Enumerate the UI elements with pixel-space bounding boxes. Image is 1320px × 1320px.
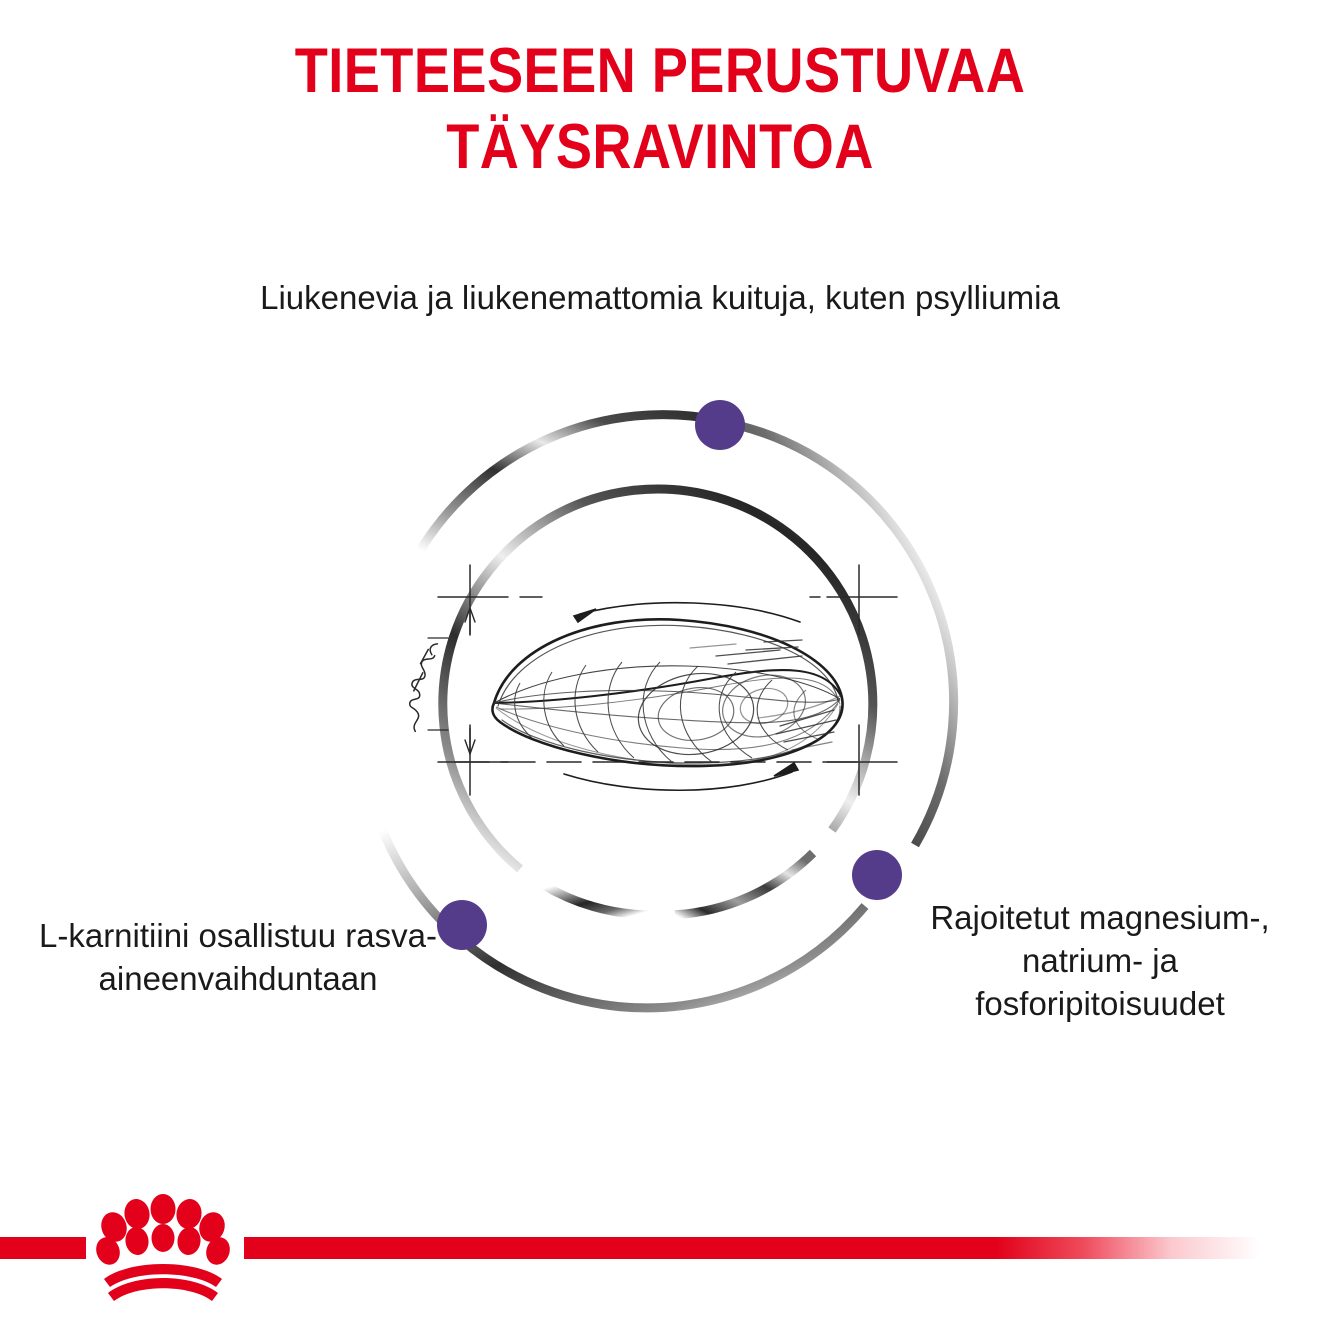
callout-label-top: Liukenevia ja liukenemattomia kuituja, k… <box>260 277 1060 320</box>
royal-canin-crown-logo <box>96 1181 238 1311</box>
kibble-body <box>492 619 842 766</box>
page-title: TIETEESEEN PERUSTUVAA TÄYSRAVINTOA <box>92 34 1227 185</box>
outer-ring <box>383 415 954 1008</box>
infographic-page: TIETEESEEN PERUSTUVAA TÄYSRAVINTOA Liuke… <box>0 0 1320 1320</box>
kibble-ring-diagram <box>345 375 975 1025</box>
kibble-shading <box>690 640 840 750</box>
sketch-annotation <box>398 640 443 731</box>
footer <box>0 1180 1320 1320</box>
